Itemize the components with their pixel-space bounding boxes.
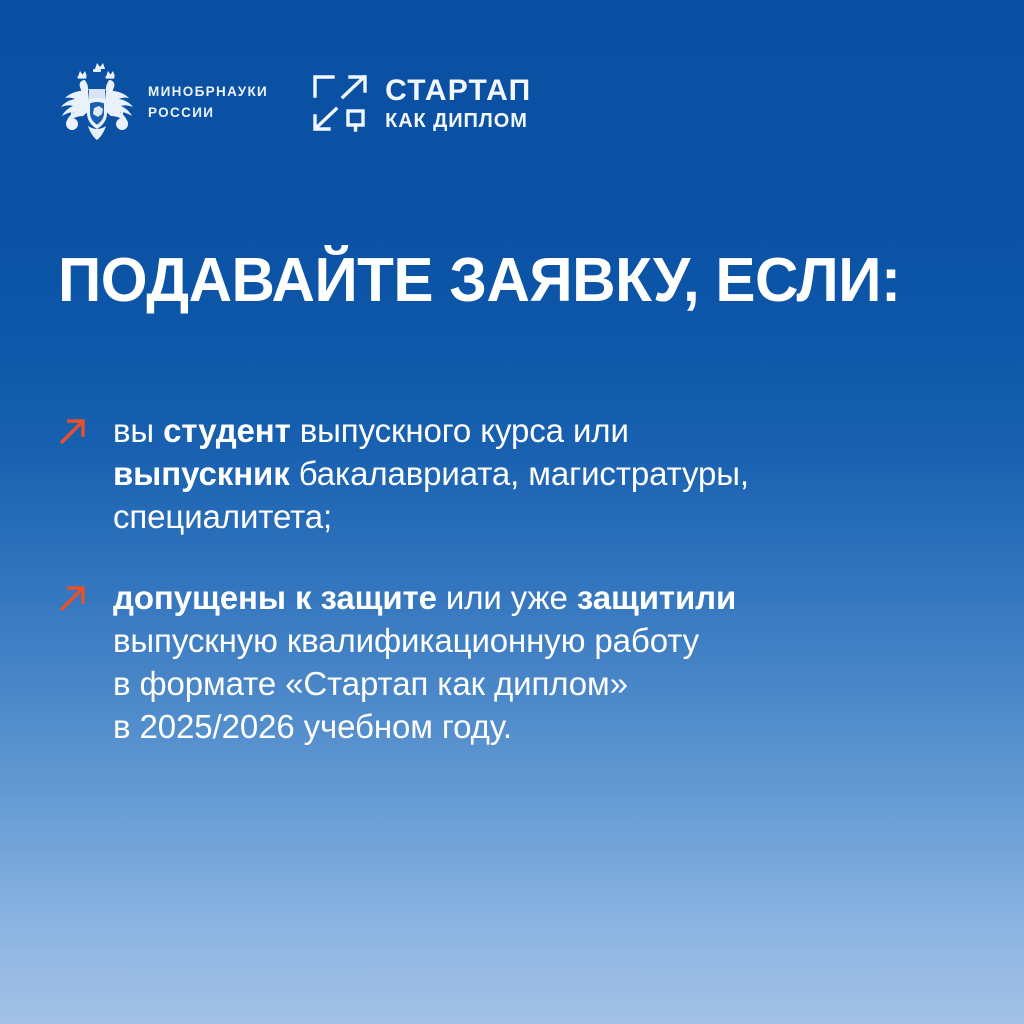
emphasis-text: допущены к защите <box>113 579 437 616</box>
program-line-2: КАК ДИПЛОМ <box>385 111 531 131</box>
list-item-line: выпускник бакалавриата, магистратуры, <box>113 452 958 495</box>
list-item-line: специалитета; <box>113 495 958 538</box>
body-text: специалитета; <box>113 498 332 535</box>
body-text: или уже <box>437 579 577 616</box>
body-text: выпускного курса или <box>291 412 629 449</box>
list-item-line: в формате «Стартап как диплом» <box>113 662 958 705</box>
ministry-logo: МИНОБРНАУКИ РОССИИ <box>58 58 268 148</box>
list-item: допущены к защите или уже защитиливыпуск… <box>58 576 958 748</box>
list-item-text: допущены к защите или уже защитиливыпуск… <box>113 576 958 748</box>
ministry-line-2: РОССИИ <box>148 105 214 120</box>
body-text: в формате «Стартап как диплом» <box>113 665 628 702</box>
arrow-up-right-icon <box>60 585 86 611</box>
ministry-line-1: МИНОБРНАУКИ <box>148 84 268 99</box>
list-item-line: выпускную квалификационную работу <box>113 619 958 662</box>
body-text: вы <box>113 412 163 449</box>
arrow-up-right-icon <box>60 418 86 444</box>
russian-double-headed-eagle-emblem <box>58 58 136 148</box>
poster-canvas: МИНОБРНАУКИ РОССИИ <box>0 0 1024 1024</box>
startup-as-diploma-arrows-mark <box>310 73 370 133</box>
eligibility-list: вы студент выпускного курса иливыпускник… <box>58 409 958 748</box>
emphasis-text: выпускник <box>113 455 290 492</box>
program-line-1: СТАРТАП <box>385 76 531 106</box>
body-text: в 2025/2026 учебном году. <box>113 708 512 745</box>
list-item-line: допущены к защите или уже защитили <box>113 576 958 619</box>
list-item-text: вы студент выпускного курса иливыпускник… <box>113 409 958 538</box>
program-wordmark: СТАРТАП КАК ДИПЛОМ <box>385 76 531 131</box>
emphasis-text: защитили <box>577 579 736 616</box>
emphasis-text: студент <box>163 412 291 449</box>
body-text: выпускную квалификационную работу <box>113 622 699 659</box>
ministry-wordmark: МИНОБРНАУКИ РОССИИ <box>148 82 268 124</box>
program-logo: СТАРТАП КАК ДИПЛОМ <box>310 73 531 133</box>
list-item-line: вы студент выпускного курса или <box>113 409 958 452</box>
logo-lockup: МИНОБРНАУКИ РОССИИ <box>58 58 531 148</box>
page-title: ПОДАВАЙТЕ ЗАЯВКУ, ЕСЛИ: <box>58 248 950 314</box>
list-item-line: в 2025/2026 учебном году. <box>113 705 958 748</box>
list-item: вы студент выпускного курса иливыпускник… <box>58 409 958 538</box>
body-text: бакалавриата, магистратуры, <box>290 455 749 492</box>
